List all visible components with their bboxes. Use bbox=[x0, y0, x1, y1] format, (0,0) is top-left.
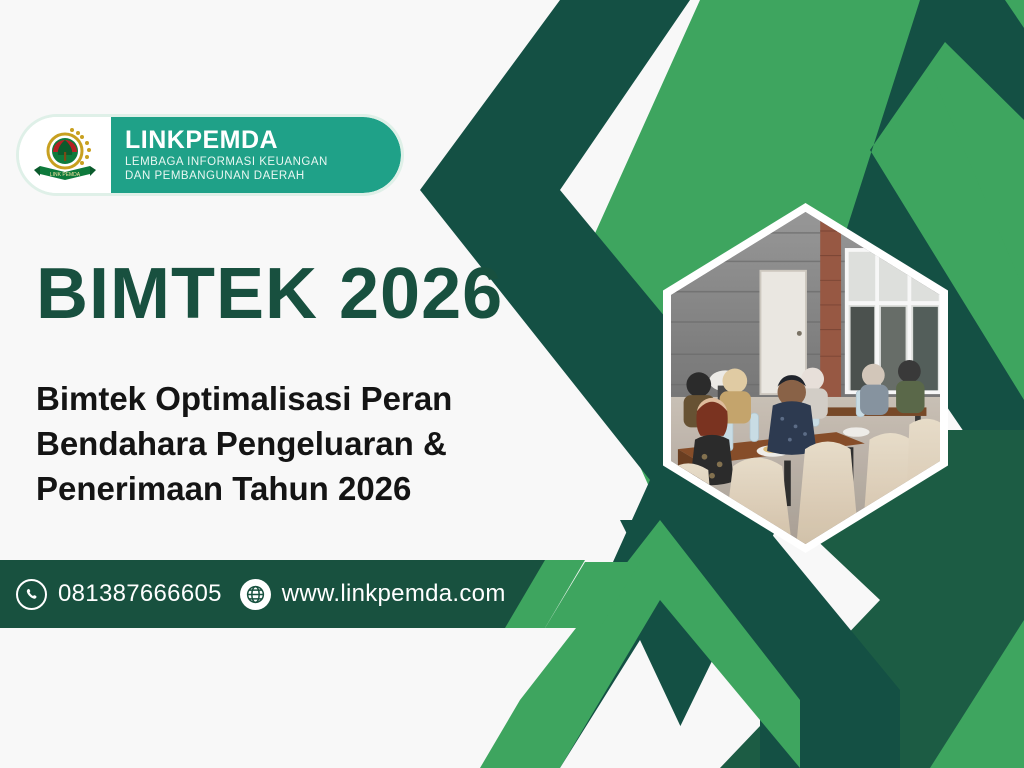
crest-logo-container: LINK PEMDA bbox=[19, 117, 111, 193]
phone-number: 081387666605 bbox=[58, 580, 222, 608]
page-title: BIMTEK 2026 bbox=[36, 258, 503, 330]
svg-text:LINK PEMDA: LINK PEMDA bbox=[50, 172, 81, 178]
brand-tagline-line2: DAN PEMBANGUNAN DAERAH bbox=[125, 169, 401, 183]
brand-tagline-line1: LEMBAGA INFORMASI KEUANGAN bbox=[125, 155, 401, 169]
website-contact[interactable]: www.linkpemda.com bbox=[240, 579, 506, 610]
phone-contact[interactable]: 081387666605 bbox=[16, 579, 222, 610]
contact-bar: 081387666605 www.linkpemda.com bbox=[0, 560, 640, 628]
brand-name: LINKPEMDA bbox=[125, 127, 401, 153]
event-photo bbox=[663, 203, 948, 553]
pemda-crest-logo-icon: LINK PEMDA bbox=[32, 124, 98, 186]
brand-logo-badge: LINK PEMDA LINKPEMDA LEMBAGA INFORMASI K… bbox=[16, 114, 404, 196]
brand-text-container: LINKPEMDA LEMBAGA INFORMASI KEUANGAN DAN… bbox=[111, 117, 401, 193]
page-subtitle: Bimtek Optimalisasi Peran Bendahara Peng… bbox=[36, 376, 536, 512]
phone-icon bbox=[16, 579, 47, 610]
poster-canvas: LINK PEMDA LINKPEMDA LEMBAGA INFORMASI K… bbox=[0, 0, 1024, 768]
website-url: www.linkpemda.com bbox=[282, 580, 506, 608]
globe-icon bbox=[240, 579, 271, 610]
contact-items: 081387666605 www.linkpemda.com bbox=[16, 560, 506, 628]
